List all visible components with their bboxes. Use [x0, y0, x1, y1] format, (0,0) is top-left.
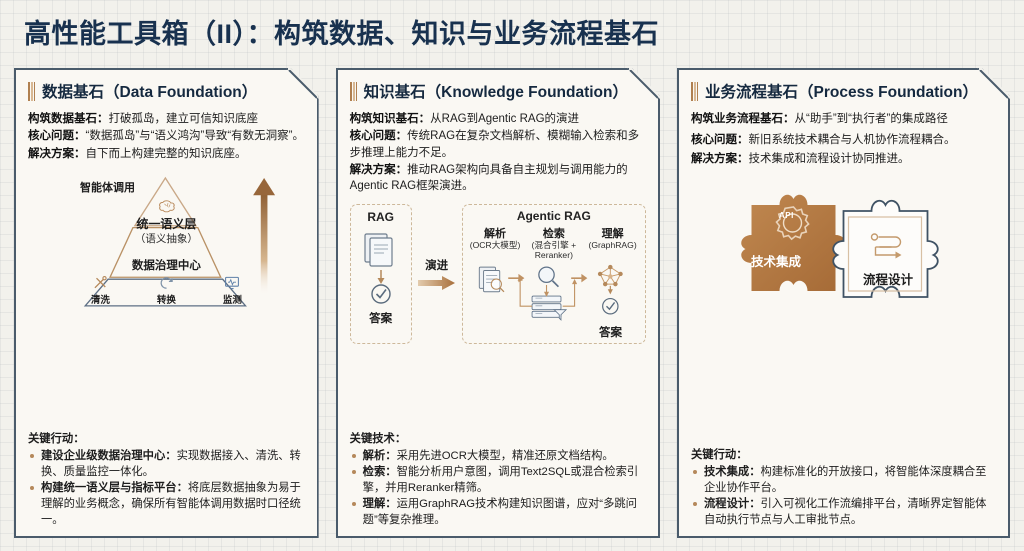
pyramid-base-item-label: 清洗 [80, 292, 120, 306]
intro-text: 自下而上构建完整的知识底座。 [86, 148, 247, 160]
puzzle-diagram: 技术集成 流程设计 API [691, 177, 996, 317]
intro-label: 核心问题： [350, 130, 408, 142]
card-header: 业务流程基石（Process Foundation） [691, 80, 996, 102]
key-actions-block: 关键行动： 建设企业级数据治理中心：实现数据接入、清洗、转换、质量监控一体化。 … [28, 431, 305, 528]
intro-text: 技术集成和流程设计协同推进。 [749, 153, 910, 165]
cards-container: 数据基石（Data Foundation） 构筑数据基石：打破孤岛，建立可信知识… [14, 68, 1010, 538]
intro-label: 构筑知识基石： [350, 113, 431, 125]
stage-sub: (OCR大模型) [466, 241, 524, 251]
list-item: 构建统一语义层与指标平台：将底层数据抽象为易于理解的业务概念，确保所有智能体调用… [28, 480, 305, 528]
rag-evolution-diagram: RAG 答案 演进 [350, 204, 646, 344]
pyramid-agent-label: 智能体调用 [80, 179, 135, 195]
card-intro: 构筑知识基石：从RAG到Agentic RAG的演进 核心问题：传统RAG在复杂… [350, 111, 646, 196]
magnifier-icon [539, 267, 559, 287]
list-item-label: 流程设计： [704, 498, 761, 510]
list-item: 检索：智能分析用户意图，调用Text2SQL或混合检索引擎，并用Reranker… [350, 464, 646, 496]
transition-label: 演进 [425, 257, 448, 273]
document-scan-icon [479, 267, 504, 292]
puzzle-pieces-icon [691, 177, 996, 317]
intro-text: 从RAG到Agentic RAG的演进 [430, 113, 579, 125]
card-title: 知识基石（Knowledge Foundation） [364, 80, 628, 102]
evolution-transition: 演进 [416, 204, 458, 344]
document-stack-icon [361, 228, 401, 308]
puzzle-left-label: 技术集成 [751, 251, 801, 270]
card-title: 业务流程基石（Process Foundation） [705, 80, 978, 102]
card-data-foundation: 数据基石（Data Foundation） 构筑数据基石：打破孤岛，建立可信知识… [14, 68, 319, 538]
accent-bar-icon [350, 82, 357, 101]
agentic-stage: 解析 (OCR大模型) [466, 225, 524, 261]
agentic-stage: 理解 (GraphRAG) [584, 225, 642, 261]
pyramid-base-item: 监测 [212, 275, 252, 306]
stage-sub: (混合引擎 + Reranker) [525, 241, 583, 261]
list-item-text: 采用先进OCR大模型，精准还原文档结构。 [397, 450, 614, 462]
intro-text: 新旧系统技术耦合与人机协作流程耦合。 [749, 134, 956, 146]
agentic-stage-labels: 解析 (OCR大模型) 检索 (混合引擎 + Reranker) 理解 (Gra… [466, 225, 642, 261]
list-item-label: 解析： [363, 450, 397, 462]
intro-line: 构筑数据基石：打破孤岛，建立可信知识底座 [28, 111, 305, 127]
list-item: 理解：运用GraphRAG技术构建知识图谱，应对“多跳问题”等复杂推理。 [350, 496, 646, 528]
pyramid-base-item-label: 监测 [212, 292, 252, 306]
card-header: 知识基石（Knowledge Foundation） [350, 80, 646, 102]
intro-line: 核心问题：新旧系统技术耦合与人机协作流程耦合。 [691, 132, 996, 149]
key-actions-list: 建设企业级数据治理中心：实现数据接入、清洗、转换、质量监控一体化。 构建统一语义… [28, 448, 305, 528]
key-actions-title: 关键行动： [691, 447, 996, 463]
page-title: 高性能工具箱（II）：构筑数据、知识与业务流程基石 [24, 12, 659, 51]
stage-name: 理解 [584, 225, 642, 241]
key-tech-title: 关键技术： [350, 431, 646, 447]
api-badge-label: API [779, 211, 794, 220]
rag-answer-label: 答案 [369, 310, 392, 326]
stage-name: 检索 [525, 225, 583, 241]
pyramid-base-item: 转换 [146, 275, 186, 306]
card-title: 数据基石（Data Foundation） [42, 80, 257, 102]
card-process-foundation: 业务流程基石（Process Foundation） 构筑业务流程基石：从“助手… [677, 68, 1010, 538]
check-circle-icon [602, 299, 617, 314]
list-item-label: 建设企业级数据治理中心： [41, 450, 177, 462]
agentic-stage-icons [466, 262, 642, 323]
monitor-icon [212, 275, 252, 291]
intro-line: 解决方案：推动RAG架构向具备自主规划与调用能力的Agentic RAG框架演进… [350, 162, 646, 195]
intro-line: 解决方案：自下而上构建完整的知识底座。 [28, 146, 305, 162]
pyramid-middle-sub: （语义抽象） [28, 231, 305, 246]
pyramid-diagram: 智能体调用 统一语义层 （语义抽象） 数据治理中心 清洗 [28, 171, 305, 311]
list-item-text: 运用GraphRAG技术构建知识图谱，应对“多跳问题”等复杂推理。 [363, 498, 637, 526]
key-tech-list: 解析：采用先进OCR大模型，精准还原文档结构。 检索：智能分析用户意图，调用Te… [350, 448, 646, 528]
check-circle-icon [372, 285, 390, 303]
key-tech-block: 关键技术： 解析：采用先进OCR大模型，精准还原文档结构。 检索：智能分析用户意… [350, 431, 646, 528]
brain-icon [160, 201, 175, 212]
pyramid-base-items: 清洗 转换 [28, 275, 305, 306]
intro-line: 解决方案：技术集成和流程设计协同推进。 [691, 151, 996, 168]
puzzle-piece-left [741, 194, 846, 290]
list-item-text: 智能分析用户意图，调用Text2SQL或混合检索引擎，并用Reranker精筛。 [363, 466, 639, 494]
card-header: 数据基石（Data Foundation） [28, 80, 305, 102]
list-item: 技术集成：构建标准化的开放接口，将智能体深度耦合至企业协作平台。 [691, 464, 996, 496]
intro-label: 解决方案： [28, 148, 86, 160]
stage-sub: (GraphRAG) [584, 241, 642, 251]
key-actions-list: 技术集成：构建标准化的开放接口，将智能体深度耦合至企业协作平台。 流程设计：引入… [691, 464, 996, 528]
intro-line: 构筑知识基石：从RAG到Agentic RAG的演进 [350, 111, 646, 127]
accent-bar-icon [28, 82, 35, 101]
card-intro: 构筑业务流程基石：从“助手”到“执行者”的集成路径 核心问题：新旧系统技术耦合与… [691, 111, 996, 169]
intro-label: 构筑业务流程基石： [691, 113, 795, 125]
intro-label: 解决方案： [691, 153, 749, 165]
list-item-label: 构建统一语义层与指标平台： [41, 482, 188, 494]
rag-box: RAG 答案 [350, 204, 412, 344]
agentic-rag-box: Agentic RAG 解析 (OCR大模型) 检索 (混合引擎 + Reran… [462, 204, 646, 344]
intro-line: 核心问题：“数据孤岛”与“语义鸿沟”导致“有数无洞察”。 [28, 128, 305, 144]
key-actions-block: 关键行动： 技术集成：构建标准化的开放接口，将智能体深度耦合至企业协作平台。 流… [691, 447, 996, 528]
card-knowledge-foundation: 知识基石（Knowledge Foundation） 构筑知识基石：从RAG到A… [336, 68, 660, 538]
card-intro: 构筑数据基石：打破孤岛，建立可信知识底座 核心问题：“数据孤岛”与“语义鸿沟”导… [28, 111, 305, 163]
intro-text: “数据孤岛”与“语义鸿沟”导致“有数无洞察”。 [86, 130, 304, 142]
intro-text: 从“助手”到“执行者”的集成路径 [795, 113, 948, 125]
puzzle-right-label: 流程设计 [863, 269, 913, 288]
database-filter-icon [532, 296, 566, 320]
agentic-answer-label: 答案 [466, 324, 642, 340]
list-item: 流程设计：引入可视化工作流编排平台，清晰界定智能体自动执行节点与人工审批节点。 [691, 496, 996, 528]
right-arrow-icon [418, 275, 456, 291]
list-item: 解析：采用先进OCR大模型，精准还原文档结构。 [350, 448, 646, 464]
list-item-label: 理解： [363, 498, 397, 510]
pyramid-middle-label: 统一语义层 [28, 215, 305, 232]
pyramid-base-item-label: 转换 [146, 292, 186, 306]
agentic-stage: 检索 (混合引擎 + Reranker) [525, 225, 583, 261]
list-item-label: 检索： [363, 466, 397, 478]
clean-tools-icon [80, 275, 120, 291]
intro-line: 构筑业务流程基石：从“助手”到“执行者”的集成路径 [691, 111, 996, 128]
stage-name: 解析 [466, 225, 524, 241]
list-item-label: 技术集成： [704, 466, 761, 478]
intro-label: 核心问题： [691, 134, 749, 146]
agentic-rag-title: Agentic RAG [466, 209, 642, 223]
list-item: 建设企业级数据治理中心：实现数据接入、清洗、转换、质量监控一体化。 [28, 448, 305, 480]
pyramid-base-label: 数据治理中心 [28, 257, 305, 273]
intro-label: 构筑数据基石： [28, 113, 109, 125]
knowledge-graph-icon [598, 265, 623, 286]
intro-label: 解决方案： [350, 164, 408, 176]
pyramid-base-item: 清洗 [80, 275, 120, 306]
rag-box-title: RAG [367, 210, 394, 224]
accent-bar-icon [691, 82, 698, 101]
refresh-cycle-icon [146, 275, 186, 291]
key-actions-title: 关键行动： [28, 431, 305, 447]
intro-label: 核心问题： [28, 130, 86, 142]
intro-text: 打破孤岛，建立可信知识底座 [109, 113, 259, 125]
intro-line: 核心问题：传统RAG在复杂文档解析、模糊输入检索和多步推理上能力不足。 [350, 128, 646, 161]
